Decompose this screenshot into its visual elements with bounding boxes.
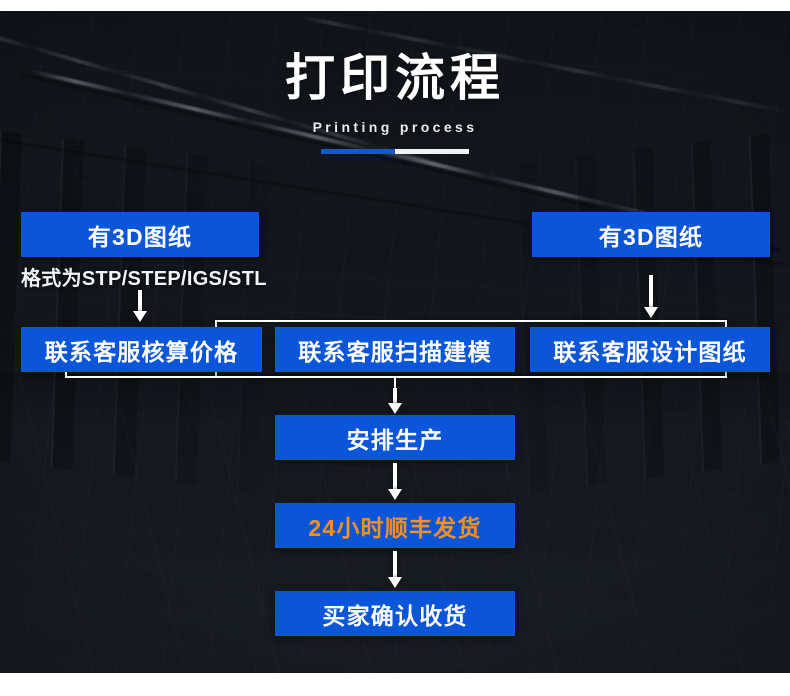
arrow-down-icon [133,290,147,322]
page-subtitle: Printing process [0,119,790,135]
arrow-down-icon [388,551,402,589]
title-divider [321,149,469,154]
flow-box-buyer-confirm-receipt[interactable]: 买家确认收货 [275,591,515,636]
arrow-down-icon [644,275,658,320]
divider-segment-blue [321,149,395,154]
arrow-down-icon [388,388,402,414]
flow-box-contact-design-drawing[interactable]: 联系客服设计图纸 [530,327,770,372]
divider-segment-white [395,149,469,154]
connector-top-bar [215,320,727,322]
format-caption: 格式为STP/STEP/IGS/STL [21,262,259,291]
header: 打印流程 Printing process [0,52,790,154]
flow-box-contact-scan-model[interactable]: 联系客服扫描建模 [275,327,515,372]
flow-box-ship-24h-sf[interactable]: 24小时顺丰发货 [275,503,515,548]
flow-box-contact-price[interactable]: 联系客服核算价格 [21,327,262,372]
arrow-down-icon [388,463,402,501]
infographic-banner: 打印流程 Printing process 有3D图纸 有3D图纸 格式为STP… [0,0,790,696]
page-title: 打印流程 [0,52,790,105]
flow-box-arrange-production[interactable]: 安排生产 [275,415,515,460]
merge-bottom-bar [65,376,727,378]
flow-box-has-3d-drawing-right[interactable]: 有3D图纸 [532,212,770,257]
flow-box-has-3d-drawing-left[interactable]: 有3D图纸 [21,212,259,257]
